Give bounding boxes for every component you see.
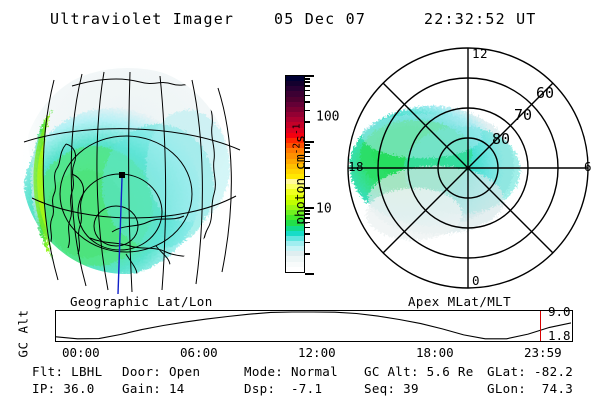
polar-view-panel: 60 70 80 12 6 0 18 — [344, 44, 596, 296]
colorbar-tick-900 — [305, 78, 310, 80]
strip-xtick-1: 06:00 — [180, 345, 218, 360]
status-gain-label: Gain: — [122, 381, 161, 396]
mlat-tick-labels: 60 70 80 — [492, 84, 554, 148]
orbit-altitude-chart — [55, 310, 573, 342]
uvi-display: Ultraviolet Imager 05 Dec 07 22:32:52 UT — [0, 0, 600, 400]
status-seq-value: 39 — [403, 381, 419, 396]
polar-view-image: 60 70 80 — [344, 44, 596, 296]
status-flt-value: LBHL — [71, 364, 102, 379]
status-glon-label: GLon: — [487, 381, 526, 396]
status-seq: Seq: 39 — [364, 381, 419, 396]
orbit-altitude-plot-panel: Geographic Lat/Lon Apex MLat/MLT GC Alt … — [0, 296, 600, 358]
status-glon-value: 74.3 — [534, 381, 573, 396]
colorbar-tick-500 — [305, 95, 310, 97]
status-door-value: Open — [169, 364, 200, 379]
status-ip: IP: 36.0 — [32, 381, 95, 396]
strip-title-right: Apex MLat/MLT — [408, 294, 511, 309]
colorbar-axis-title-mid: s — [294, 135, 309, 143]
status-glat-value: -82.2 — [534, 364, 573, 379]
status-door: Door: Open — [122, 364, 200, 379]
colorbar-tick-600 — [305, 90, 310, 92]
status-dsp-label: Dsp: — [244, 381, 275, 396]
detector-noise — [22, 66, 230, 274]
status-gain-value: 14 — [169, 381, 185, 396]
colorbar-axis-title: photon cm-2s-1 — [276, 123, 323, 273]
status-mode-value: Normal — [291, 364, 338, 379]
orbit-altitude-trace — [56, 311, 571, 340]
colorbar-tick-1 — [305, 273, 314, 275]
status-mode-label: Mode: — [244, 364, 283, 379]
status-gc-alt-label: GC Alt: — [364, 364, 419, 379]
globe-view-panel — [8, 46, 256, 294]
strip-xtick-3: 18:00 — [416, 345, 454, 360]
colorbar-tick-300 — [305, 110, 310, 112]
subsatellite-point-marker — [119, 172, 125, 178]
strip-y-axis-label: GC Alt — [16, 304, 31, 364]
status-glat: GLat: -82.2 — [487, 364, 573, 379]
status-dsp-value: -7.1 — [283, 381, 322, 396]
status-ip-value: 36.0 — [63, 381, 94, 396]
page-title: Ultraviolet Imager — [50, 10, 234, 28]
mlt-label-0: 0 — [472, 273, 480, 288]
mlat-label-60: 60 — [536, 84, 554, 102]
status-glat-label: GLat: — [487, 364, 526, 379]
aurora-oval — [350, 106, 520, 240]
globe-view-image — [8, 46, 256, 294]
status-block: Flt: LBHL Door: Open Mode: Normal GC Alt… — [0, 362, 600, 400]
mlat-label-80: 80 — [492, 130, 510, 148]
status-flt-label: Flt: — [32, 364, 63, 379]
status-dsp: Dsp: -7.1 — [244, 381, 322, 396]
strip-title-left: Geographic Lat/Lon — [70, 294, 213, 309]
strip-xtick-0: 00:00 — [62, 345, 100, 360]
observation-time: 22:32:52 UT — [424, 10, 537, 28]
status-gc-alt-value: 5.6 Re — [427, 364, 474, 379]
status-seq-label: Seq: — [364, 381, 395, 396]
colorbar-axis-title-main: photon cm — [294, 154, 309, 224]
status-mode: Mode: Normal — [244, 364, 338, 379]
status-door-label: Door: — [122, 364, 161, 379]
status-glon: GLon: 74.3 — [487, 381, 573, 396]
mlat-label-70: 70 — [514, 106, 532, 124]
strip-xtick-4: 23:59 — [524, 345, 562, 360]
mlt-label-12: 12 — [472, 46, 488, 61]
colorbar-axis-title-exponent-1: -2 — [291, 143, 302, 154]
colorbar-tick-400 — [305, 101, 310, 103]
mlt-label-18: 18 — [348, 159, 364, 174]
mlt-label-6: 6 — [584, 159, 592, 174]
status-flt: Flt: LBHL — [32, 364, 102, 379]
observation-date: 05 Dec 07 — [274, 10, 366, 28]
status-gain: Gain: 14 — [122, 381, 185, 396]
strip-xtick-2: 12:00 — [298, 345, 336, 360]
status-ip-label: IP: — [32, 381, 55, 396]
colorbar-axis-title-exponent-2: -1 — [291, 124, 302, 135]
colorbar-tick-1000 — [305, 75, 314, 77]
status-gc-alt: GC Alt: 5.6 Re — [364, 364, 474, 379]
colorbar-tick-800 — [305, 81, 310, 83]
colorbar-tick-700 — [305, 85, 310, 87]
colorbar-panel: 100 10 photon cm-2s-1 — [258, 46, 358, 296]
current-time-marker — [540, 311, 542, 341]
